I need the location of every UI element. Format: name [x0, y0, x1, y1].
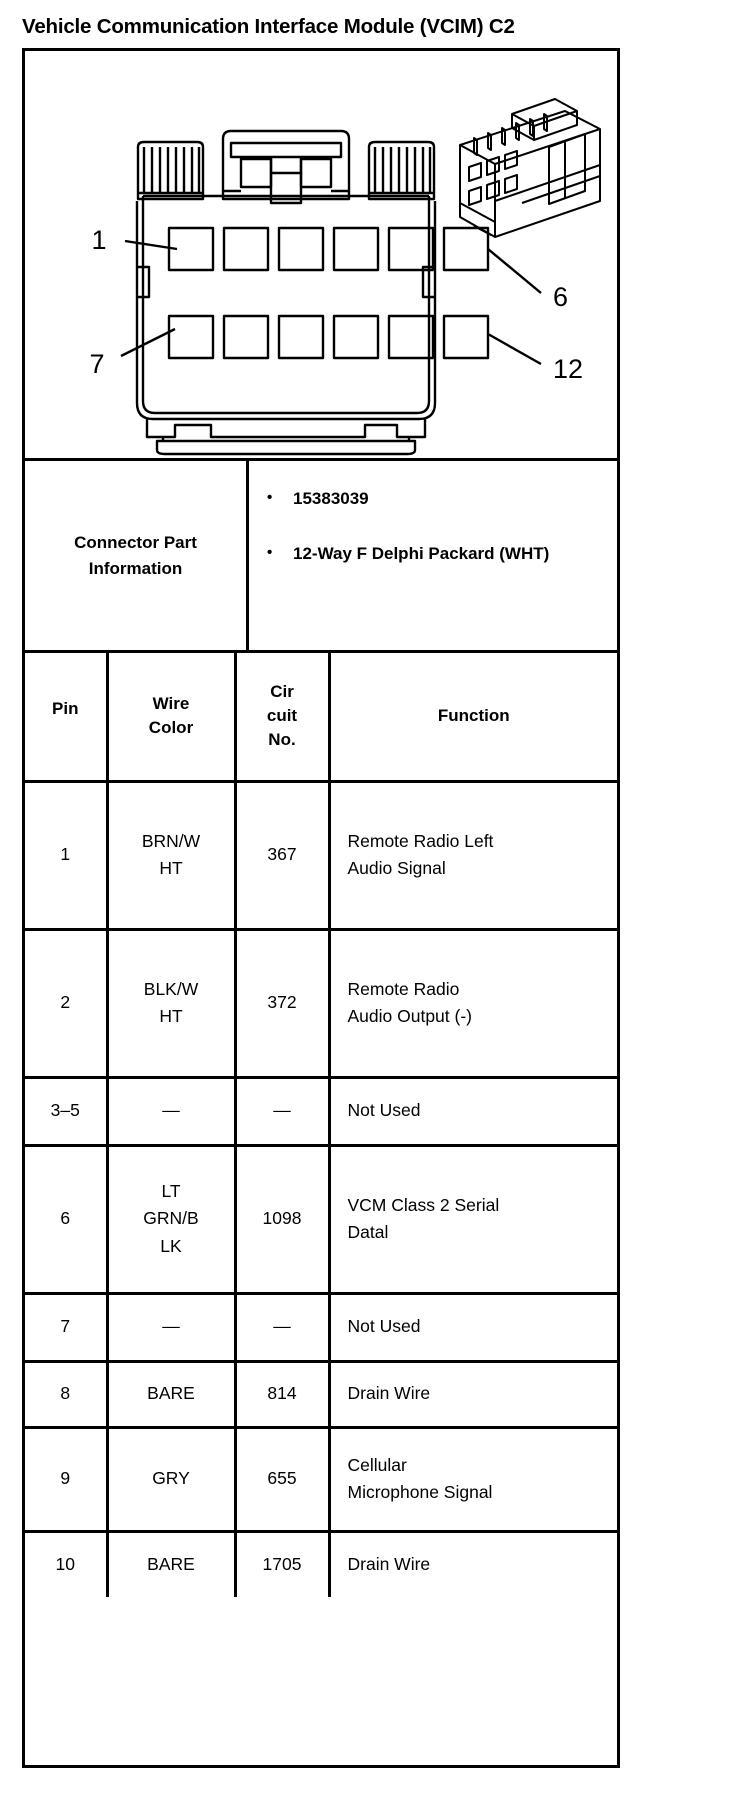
- cell-function: Cellular Microphone Signal: [329, 1427, 617, 1531]
- cell-wire-color: LT GRN/B LK: [107, 1145, 235, 1293]
- page-title: Vehicle Communication Interface Module (…: [22, 16, 642, 39]
- wire-color-line1: BRN/W: [113, 828, 230, 855]
- function-line1: Remote Radio: [348, 976, 610, 1003]
- cell-circuit-no: —: [235, 1077, 329, 1145]
- connector-diagram: 1 6 7 12: [25, 51, 617, 457]
- function-line2: Audio Output (-): [348, 1003, 610, 1030]
- cell-pin: 9: [25, 1427, 107, 1531]
- cell-circuit-no: 655: [235, 1427, 329, 1531]
- cell-wire-color: BLK/W HT: [107, 929, 235, 1077]
- cell-pin: 8: [25, 1361, 107, 1427]
- cell-wire-color: BARE: [107, 1361, 235, 1427]
- function-line1: VCM Class 2 Serial: [348, 1192, 610, 1219]
- wire-color-line3: LK: [113, 1233, 230, 1260]
- cell-circuit-no: 367: [235, 781, 329, 929]
- column-header-wire-color-line1: Wire: [111, 692, 232, 716]
- column-header-circuit-line2: cuit: [239, 704, 326, 728]
- cell-circuit-no: —: [235, 1293, 329, 1361]
- table-row: 3–5 — — Not Used: [25, 1077, 617, 1145]
- function-line2: Audio Signal: [348, 855, 610, 882]
- column-header-circuit-line1: Cir: [239, 680, 326, 704]
- callout-label-7: 7: [89, 349, 104, 379]
- table-header-row: Pin Wire Color Cir cuit No. Function: [25, 653, 617, 781]
- cell-wire-color: —: [107, 1293, 235, 1361]
- cell-wire-color: GRY: [107, 1427, 235, 1531]
- cell-function: Remote Radio Audio Output (-): [329, 929, 617, 1077]
- bullet-icon: •: [267, 542, 293, 567]
- leader-line-12: [488, 334, 541, 364]
- cell-function: Not Used: [329, 1077, 617, 1145]
- table-row: 8 BARE 814 Drain Wire: [25, 1361, 617, 1427]
- column-header-function: Function: [329, 653, 617, 781]
- cell-pin: 6: [25, 1145, 107, 1293]
- wire-color-line2: GRN/B: [113, 1205, 230, 1232]
- connector-part-information-label: Connector Part Information: [25, 461, 249, 650]
- table-row: 9 GRY 655 Cellular Microphone Signal: [25, 1427, 617, 1531]
- cell-circuit-no: 1098: [235, 1145, 329, 1293]
- table-row: 6 LT GRN/B LK 1098 VCM Class 2 Serial Da…: [25, 1145, 617, 1293]
- connector-part-information-row: Connector Part Information • 15383039 • …: [25, 461, 617, 653]
- cell-circuit-no: 1705: [235, 1531, 329, 1597]
- function-line2: Microphone Signal: [348, 1479, 610, 1506]
- cell-wire-color: BRN/W HT: [107, 781, 235, 929]
- column-header-wire-color: Wire Color: [107, 653, 235, 781]
- connector-part-information-values: • 15383039 • 12-Way F Delphi Packard (WH…: [249, 461, 617, 650]
- function-line2: Datal: [348, 1219, 610, 1246]
- cell-wire-color: BARE: [107, 1531, 235, 1597]
- pin-assignment-table: Pin Wire Color Cir cuit No. Function: [25, 653, 617, 1597]
- part-info-item: • 15383039: [267, 487, 611, 512]
- wire-color-line1: BLK/W: [113, 976, 230, 1003]
- cell-pin: 1: [25, 781, 107, 929]
- cell-function: VCM Class 2 Serial Datal: [329, 1145, 617, 1293]
- cell-pin: 10: [25, 1531, 107, 1597]
- cell-pin: 3–5: [25, 1077, 107, 1145]
- function-line1: Cellular: [348, 1452, 610, 1479]
- wire-color-line1: LT: [113, 1178, 230, 1205]
- cell-circuit-no: 372: [235, 929, 329, 1077]
- callout-label-12: 12: [553, 354, 583, 384]
- table-row: 7 — — Not Used: [25, 1293, 617, 1361]
- callout-label-6: 6: [553, 282, 568, 312]
- connector-description: 12-Way F Delphi Packard (WHT): [293, 542, 611, 567]
- cell-function: Drain Wire: [329, 1361, 617, 1427]
- cell-pin: 7: [25, 1293, 107, 1361]
- document-page: Vehicle Communication Interface Module (…: [0, 0, 752, 1810]
- column-header-pin: Pin: [25, 653, 107, 781]
- bullet-icon: •: [267, 487, 293, 512]
- part-info-item: • 12-Way F Delphi Packard (WHT): [267, 542, 611, 567]
- cell-pin: 2: [25, 929, 107, 1077]
- leader-line-6: [488, 249, 541, 293]
- table-row: 10 BARE 1705 Drain Wire: [25, 1531, 617, 1597]
- connector-front-view: [137, 131, 488, 454]
- callout-label-1: 1: [91, 225, 106, 255]
- cell-function: Remote Radio Left Audio Signal: [329, 781, 617, 929]
- table-row: 1 BRN/W HT 367 Remote Radio Left Audio S…: [25, 781, 617, 929]
- wire-color-line2: HT: [113, 1003, 230, 1030]
- column-header-wire-color-line2: Color: [111, 716, 232, 740]
- leader-line-7: [121, 329, 175, 356]
- column-header-circuit-line3: No.: [239, 728, 326, 752]
- cell-wire-color: —: [107, 1077, 235, 1145]
- column-header-circuit-no: Cir cuit No.: [235, 653, 329, 781]
- cell-function: Drain Wire: [329, 1531, 617, 1597]
- cell-function: Not Used: [329, 1293, 617, 1361]
- wire-color-line2: HT: [113, 855, 230, 882]
- connector-isometric-view: [460, 99, 600, 237]
- table-row: 2 BLK/W HT 372 Remote Radio Audio Output…: [25, 929, 617, 1077]
- connector-info-frame: 1 6 7 12 Connector Part Information • 15…: [22, 48, 620, 1768]
- cell-circuit-no: 814: [235, 1361, 329, 1427]
- connector-diagram-cell: 1 6 7 12: [25, 51, 617, 461]
- function-line1: Remote Radio Left: [348, 828, 610, 855]
- part-number: 15383039: [293, 487, 611, 512]
